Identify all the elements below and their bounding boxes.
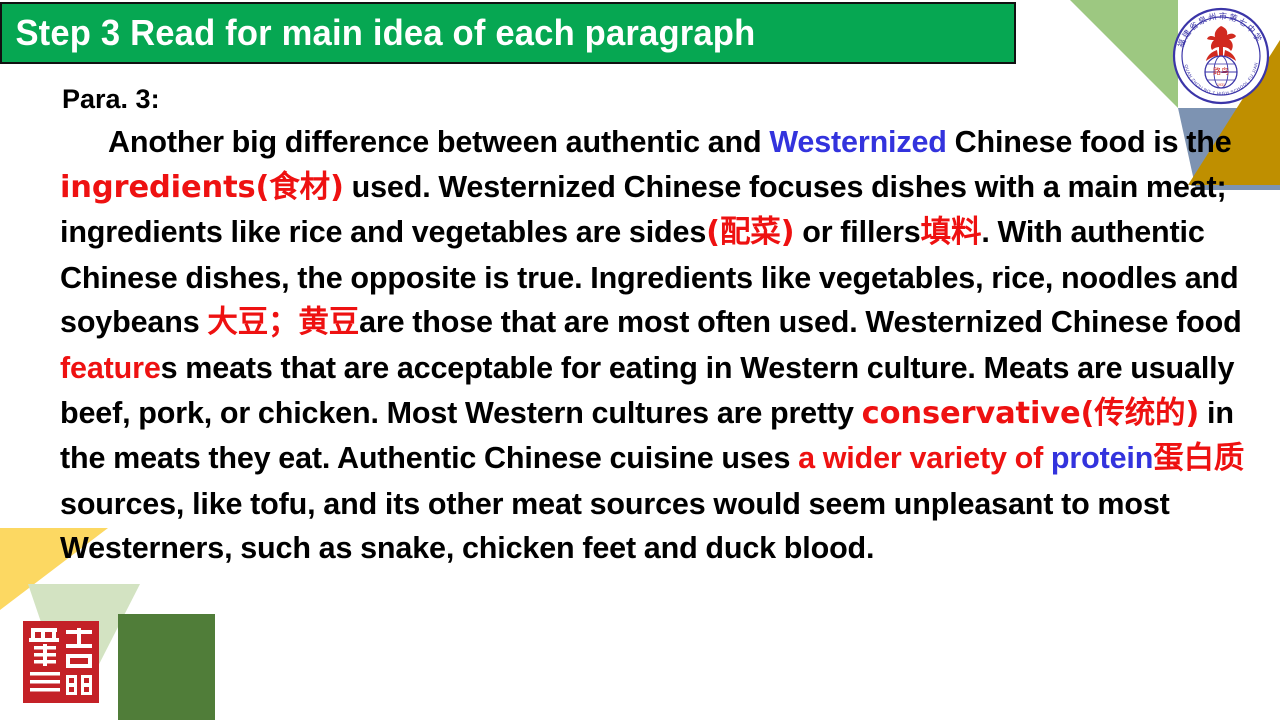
text-run-16 — [1043, 441, 1051, 475]
text-run-19: sources, like tofu, and its other meat s… — [60, 487, 1170, 566]
text-run-15: a wider variety of — [798, 441, 1043, 475]
text-run-6: or fillers — [794, 215, 920, 249]
text-run-18: 蛋白质 — [1153, 441, 1244, 476]
text-run-17: protein — [1051, 441, 1153, 475]
text-run-5: (配菜) — [706, 215, 794, 250]
paragraph-block: Para. 3: Another big difference between … — [60, 78, 1272, 571]
dark-green-triangle — [118, 614, 215, 720]
text-run-7: 填料 — [921, 215, 982, 250]
slide-canvas: 福建省泉州市第七中学 QUAN ZHOU NO.7 HIGH SCHOOL FU… — [0, 0, 1280, 720]
text-run-11: feature — [60, 351, 161, 385]
svg-text:路鸟: 路鸟 — [1213, 66, 1229, 76]
text-run-0: Another big difference between authentic… — [108, 125, 769, 159]
red-seal-stamp — [22, 620, 100, 704]
text-run-13: conservative(传统的) — [862, 396, 1200, 431]
text-run-10: are those that are most often used. West… — [359, 305, 1241, 339]
text-run-3: ingredients(食材) — [60, 170, 344, 205]
title-banner: Step 3 Read for main idea of each paragr… — [0, 2, 1016, 64]
text-run-2: Chinese food is the — [947, 125, 1232, 159]
text-run-1: Westernized — [769, 125, 946, 159]
paragraph-text: Another big difference between authentic… — [60, 120, 1272, 571]
page-title: Step 3 Read for main idea of each paragr… — [2, 15, 755, 51]
text-run-9: 大豆；黄豆 — [207, 305, 359, 340]
paragraph-label: Para. 3: — [62, 78, 1272, 120]
